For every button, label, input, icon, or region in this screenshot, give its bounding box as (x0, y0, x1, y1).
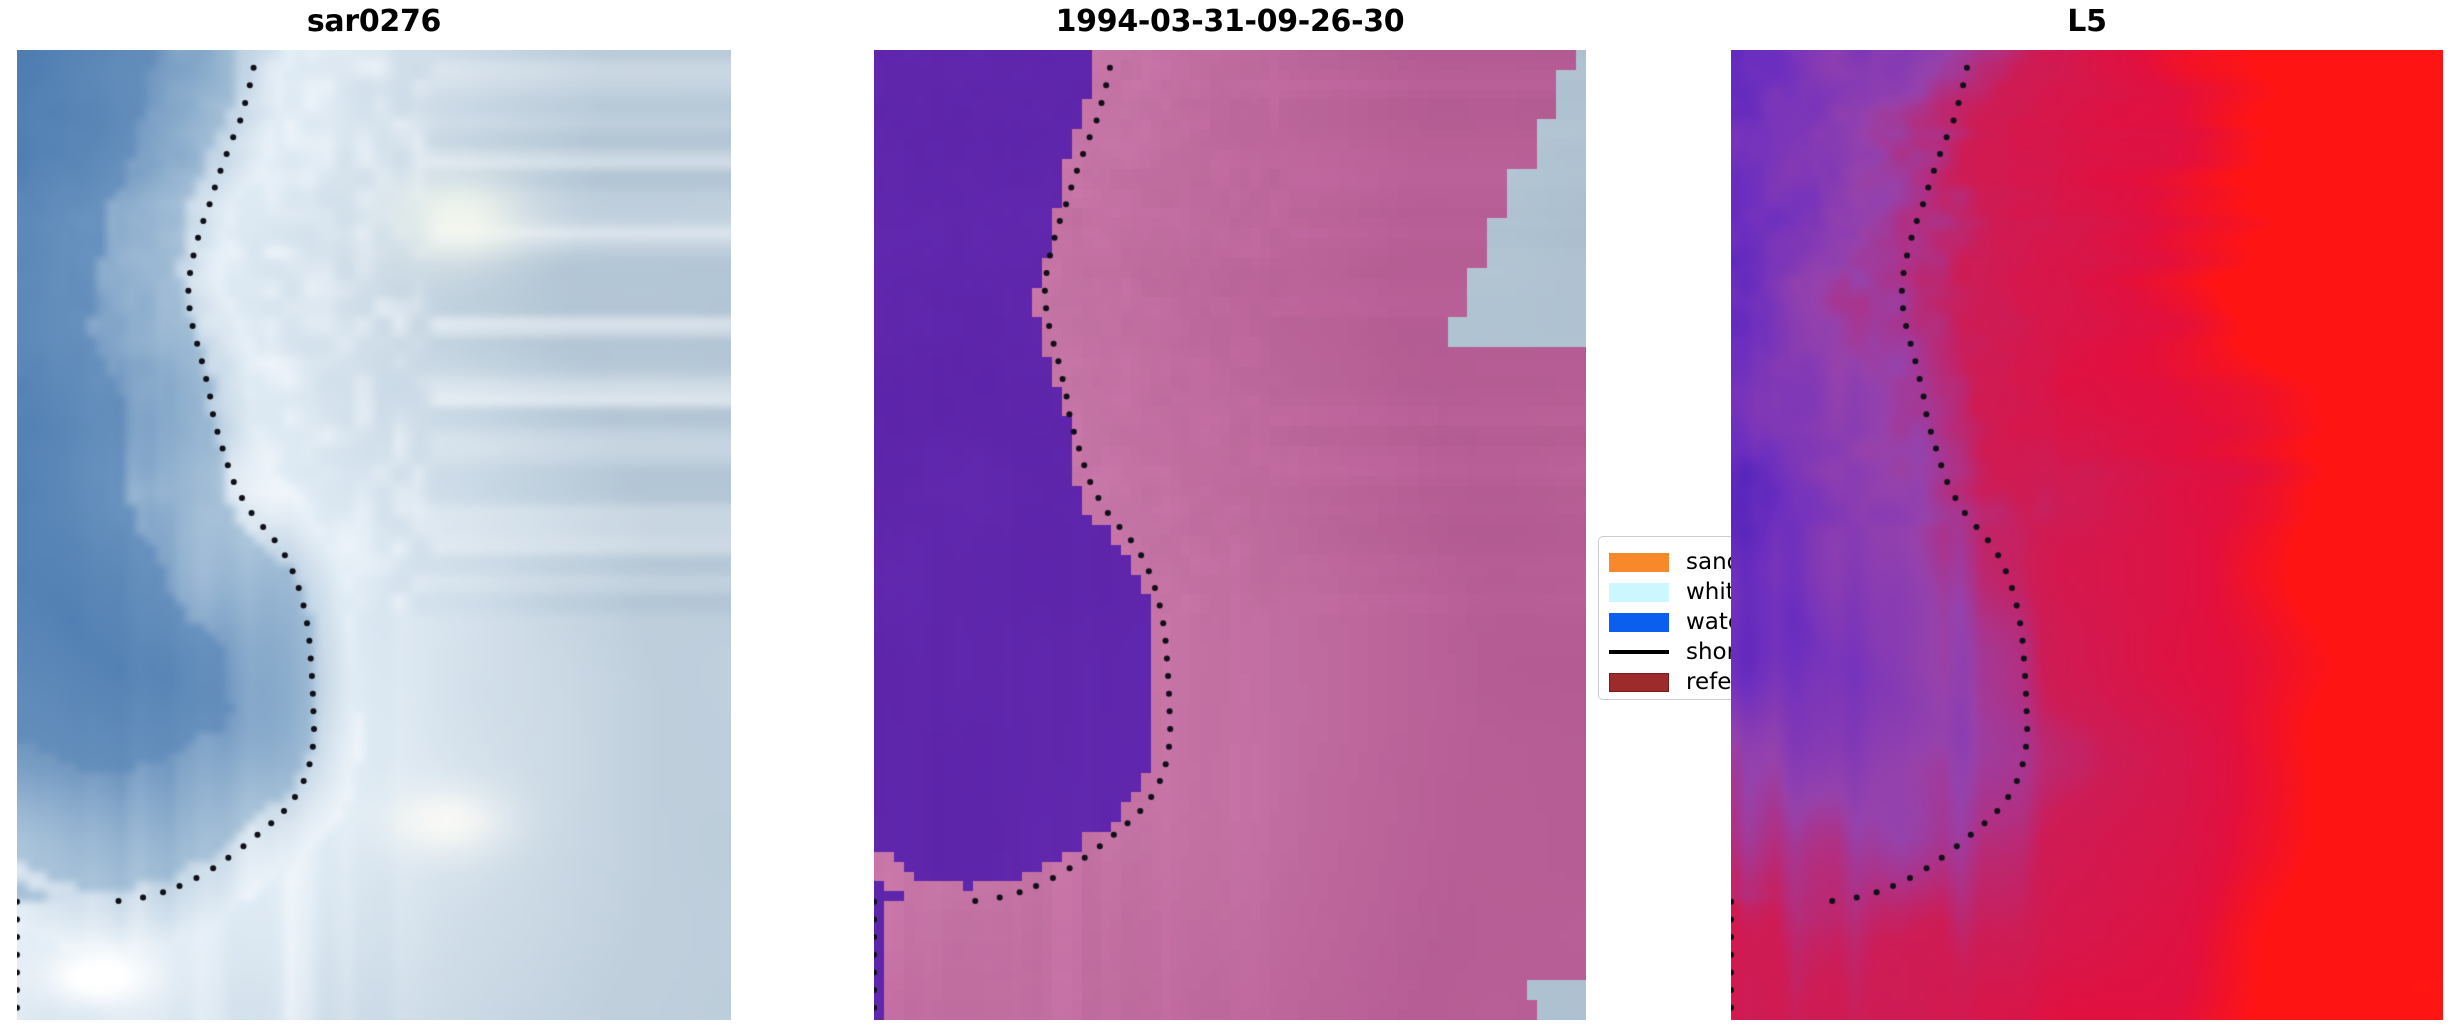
panel-l5-image (1731, 50, 2443, 1020)
figure-canvas: sar0276 1994-03-31-09-26-30 sand whitew … (0, 0, 2460, 1033)
water-swatch-icon (1609, 613, 1669, 632)
whitewater-swatch-icon (1609, 583, 1669, 602)
panel-sar-image (17, 50, 731, 1020)
panel-sar-title: sar0276 (17, 4, 731, 39)
sand-swatch-icon (1609, 553, 1669, 572)
panel-l5-title: L5 (1731, 4, 2443, 39)
panel-date-image (874, 50, 1586, 1020)
panel-date (874, 50, 1586, 1020)
panel-l5 (1731, 50, 2443, 1020)
panel-sar (17, 50, 731, 1020)
reference-shoreline-swatch-icon (1609, 673, 1669, 692)
panel-date-title: 1994-03-31-09-26-30 (874, 4, 1586, 39)
shoreline-line-icon (1609, 643, 1669, 662)
